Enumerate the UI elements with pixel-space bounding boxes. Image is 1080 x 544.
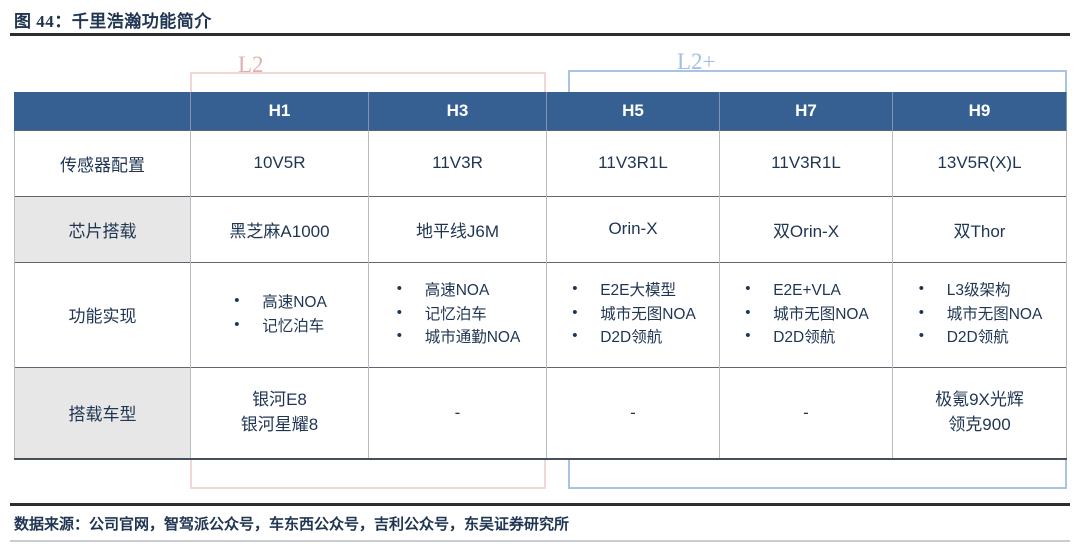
model-line: 银河E8 [192, 388, 367, 413]
bullet-item: E2E+VLA [743, 279, 869, 303]
row-label-model: 搭载车型 [15, 367, 191, 459]
bullet-item: 城市无图NOA [570, 303, 696, 327]
row-label-sensor: 传感器配置 [15, 130, 191, 196]
model-lines-h1: 银河E8银河星耀8 [192, 388, 367, 437]
bullet-item: 城市无图NOA [743, 303, 869, 327]
bullet-item: 城市无图NOA [917, 303, 1043, 327]
table-row: 传感器配置 10V5R 11V3R 11V3R1L 11V3R1L 13V5R(… [15, 130, 1067, 196]
figure-page: 图 44：千里浩瀚功能简介 L2 L2+ H1 H3 H5 H7 H9 传感器配… [0, 0, 1080, 544]
title-divider [10, 33, 1070, 36]
bullet-item: D2D领航 [743, 326, 869, 350]
bullet-item: 记忆泊车 [395, 303, 521, 327]
cell-model-h3: - [369, 367, 547, 459]
group-label-l2: L2 [238, 53, 264, 76]
table-row: 搭载车型 银河E8银河星耀8 - - - 极氪9X光辉领克900 [15, 367, 1067, 459]
row-label-function: 功能实现 [15, 262, 191, 367]
cell-chip-h1: 黑芝麻A1000 [191, 196, 369, 262]
cell-model-h9: 极氪9X光辉领克900 [893, 367, 1067, 459]
column-header-label [15, 92, 191, 130]
cell-function-h5: E2E大模型城市无图NOAD2D领航 [547, 262, 720, 367]
column-header-h7: H7 [720, 92, 893, 130]
bullet-item: 高速NOA [232, 291, 327, 315]
cell-sensor-h3: 11V3R [369, 130, 547, 196]
table-row: 功能实现 高速NOA记忆泊车 高速NOA记忆泊车城市通勤NOA E2E大模型城市… [15, 262, 1067, 367]
column-header-h5: H5 [547, 92, 720, 130]
cell-function-h7: E2E+VLA城市无图NOAD2D领航 [720, 262, 893, 367]
bullet-list-h1: 高速NOA记忆泊车 [232, 291, 327, 338]
cell-model-h7: - [720, 367, 893, 459]
group-label-l2plus: L2+ [677, 50, 716, 73]
column-header-h1: H1 [191, 92, 369, 130]
bullet-item: 城市通勤NOA [395, 326, 521, 350]
cell-model-h5: - [547, 367, 720, 459]
cell-chip-h9: 双Thor [893, 196, 1067, 262]
table-row: 芯片搭载 黑芝麻A1000 地平线J6M Orin-X 双Orin-X 双Tho… [15, 196, 1067, 262]
feature-comparison-table: H1 H3 H5 H7 H9 传感器配置 10V5R 11V3R 11V3R1L… [14, 92, 1067, 460]
figure-title: 图 44：千里浩瀚功能简介 [14, 7, 212, 32]
bullet-item: L3级架构 [917, 279, 1043, 303]
source-note: 数据来源：公司官网，智驾派公众号，车东西公众号，吉利公众号，东吴证券研究所 [14, 513, 569, 534]
model-line: 领克900 [894, 413, 1065, 438]
bullet-list-h5: E2E大模型城市无图NOAD2D领航 [570, 279, 696, 350]
bullet-item: E2E大模型 [570, 279, 696, 303]
table-header-row: H1 H3 H5 H7 H9 [15, 92, 1067, 130]
model-line: 银河星耀8 [192, 413, 367, 438]
bullet-item: 记忆泊车 [232, 315, 327, 339]
cell-function-h9: L3级架构城市无图NOAD2D领航 [893, 262, 1067, 367]
cell-chip-h5: Orin-X [547, 196, 720, 262]
cell-chip-h3: 地平线J6M [369, 196, 547, 262]
cell-sensor-h9: 13V5R(X)L [893, 130, 1067, 196]
cell-function-h3: 高速NOA记忆泊车城市通勤NOA [369, 262, 547, 367]
column-header-h9: H9 [893, 92, 1067, 130]
cell-sensor-h7: 11V3R1L [720, 130, 893, 196]
cell-model-h1: 银河E8银河星耀8 [191, 367, 369, 459]
cell-sensor-h5: 11V3R1L [547, 130, 720, 196]
bullet-item: D2D领航 [570, 326, 696, 350]
bullet-list-h9: L3级架构城市无图NOAD2D领航 [917, 279, 1043, 350]
bullet-item: D2D领航 [917, 326, 1043, 350]
footer-divider [10, 540, 1070, 542]
source-divider [10, 503, 1070, 506]
row-label-chip: 芯片搭载 [15, 196, 191, 262]
model-line: 极氪9X光辉 [894, 388, 1065, 413]
bullet-list-h7: E2E+VLA城市无图NOAD2D领航 [743, 279, 869, 350]
cell-sensor-h1: 10V5R [191, 130, 369, 196]
cell-function-h1: 高速NOA记忆泊车 [191, 262, 369, 367]
model-lines-h9: 极氪9X光辉领克900 [894, 388, 1065, 437]
bullet-list-h3: 高速NOA记忆泊车城市通勤NOA [395, 279, 521, 350]
bullet-item: 高速NOA [395, 279, 521, 303]
column-header-h3: H3 [369, 92, 547, 130]
cell-chip-h7: 双Orin-X [720, 196, 893, 262]
